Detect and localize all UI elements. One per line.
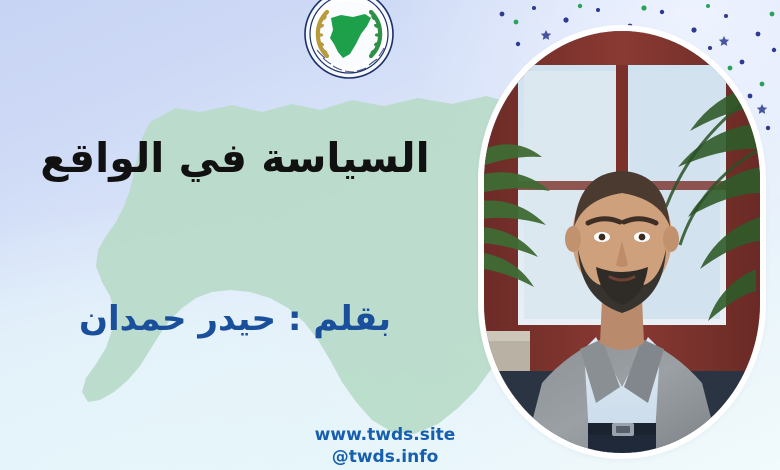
page-title: السياسة في الواقع [0, 133, 470, 184]
author-portrait [484, 31, 760, 453]
footer-links: www.twds.site @twds.info [235, 424, 535, 468]
website-url[interactable]: www.twds.site [235, 424, 535, 446]
party-emblem-logo [303, 0, 395, 80]
poster-canvas: السياسة في الواقع بقلم : حيدر حمدان www.… [0, 0, 780, 470]
author-byline: بقلم : حيدر حمدان [0, 298, 470, 341]
social-handle[interactable]: @twds.info [235, 446, 535, 468]
